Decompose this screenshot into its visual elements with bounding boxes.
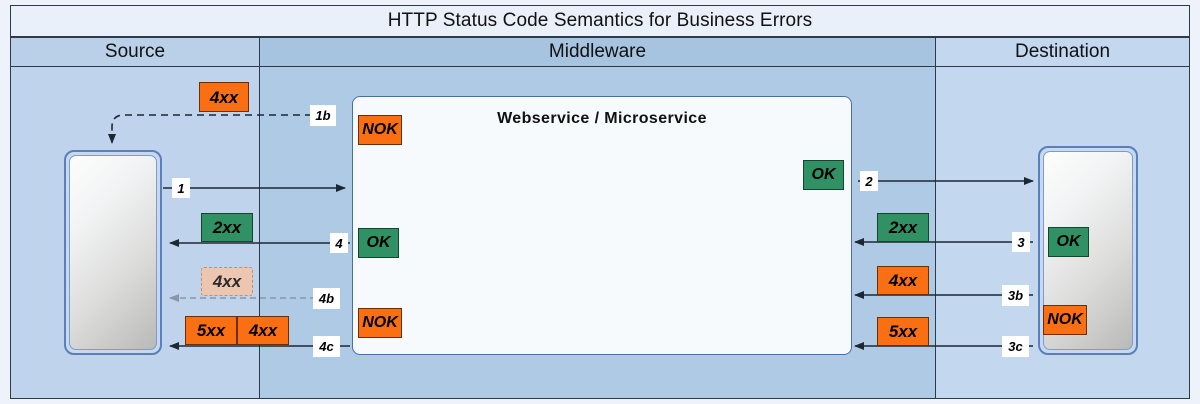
step-label-4b-text: 4b	[319, 291, 334, 306]
badge-source-4xx-top: 4xx	[199, 82, 249, 112]
badge-destination-2xx: 2xx	[877, 213, 929, 242]
badge-middleware-ok-left: OK	[358, 228, 399, 258]
step-label-1b-text: 1b	[315, 108, 330, 123]
badge-destination-5xx-text: 5xx	[889, 323, 917, 340]
column-header-destination-label: Destination	[1015, 41, 1110, 63]
badge-middleware-ok-left-text: OK	[367, 235, 391, 251]
column-header-source: Source	[10, 37, 260, 67]
badge-source-5xx-text: 5xx	[197, 322, 225, 339]
column-header-middleware-label: Middleware	[549, 41, 646, 63]
step-label-4-text: 4	[335, 236, 342, 251]
step-label-2: 2	[860, 171, 878, 191]
badge-source-4xx-faded-text: 4xx	[213, 273, 241, 290]
badge-destination-4xx-text: 4xx	[889, 272, 917, 289]
step-label-1b: 1b	[310, 105, 336, 126]
step-label-4c: 4c	[313, 336, 340, 357]
badge-destination-5xx: 5xx	[877, 317, 929, 346]
step-label-1: 1	[172, 178, 190, 198]
badge-destination-ok: OK	[1048, 227, 1089, 257]
badge-source-4xx-bottom-text: 4xx	[249, 322, 277, 339]
diagram-root: HTTP Status Code Semantics for Business …	[0, 0, 1200, 404]
source-system-node-body	[69, 155, 157, 350]
badge-middleware-nok-bottom: NOK	[358, 308, 402, 338]
step-label-3: 3	[1012, 232, 1030, 252]
badge-middleware-ok-right-text: OK	[812, 167, 836, 183]
badge-source-2xx-text: 2xx	[213, 219, 241, 236]
column-header-destination: Destination	[935, 37, 1190, 67]
badge-middleware-nok-top: NOK	[358, 115, 402, 145]
column-header-middleware: Middleware	[259, 37, 936, 67]
badge-destination-2xx-text: 2xx	[889, 219, 917, 236]
badge-destination-nok-text: NOK	[1047, 312, 1083, 328]
step-label-3b: 3b	[1002, 285, 1029, 306]
badge-source-4xx-bottom: 4xx	[237, 316, 289, 345]
step-label-3c-text: 3c	[1008, 339, 1022, 354]
step-label-4: 4	[330, 233, 348, 253]
webservice-microservice-box: Webservice / Microservice	[352, 96, 852, 355]
badge-destination-4xx: 4xx	[877, 266, 929, 295]
column-header-source-label: Source	[105, 41, 165, 63]
badge-middleware-nok-top-text: NOK	[362, 122, 398, 138]
webservice-microservice-label: Webservice / Microservice	[353, 110, 851, 128]
step-label-3c: 3c	[1002, 336, 1029, 357]
step-label-1-text: 1	[177, 181, 184, 196]
step-label-3b-text: 3b	[1008, 288, 1023, 303]
badge-source-4xx-faded: 4xx	[201, 267, 253, 296]
diagram-title: HTTP Status Code Semantics for Business …	[10, 5, 1190, 37]
step-label-4b: 4b	[313, 288, 340, 309]
badge-destination-nok: NOK	[1043, 305, 1087, 335]
source-system-node	[64, 150, 162, 355]
badge-middleware-nok-bottom-text: NOK	[362, 315, 398, 331]
step-label-2-text: 2	[865, 174, 872, 189]
badge-destination-ok-text: OK	[1057, 234, 1081, 250]
badge-source-5xx: 5xx	[185, 316, 237, 345]
step-label-4c-text: 4c	[319, 339, 333, 354]
badge-middleware-ok-right: OK	[803, 160, 844, 190]
diagram-title-text: HTTP Status Code Semantics for Business …	[388, 10, 813, 32]
step-label-3-text: 3	[1017, 235, 1024, 250]
badge-source-4xx-top-text: 4xx	[210, 89, 238, 106]
badge-source-2xx: 2xx	[201, 213, 253, 242]
